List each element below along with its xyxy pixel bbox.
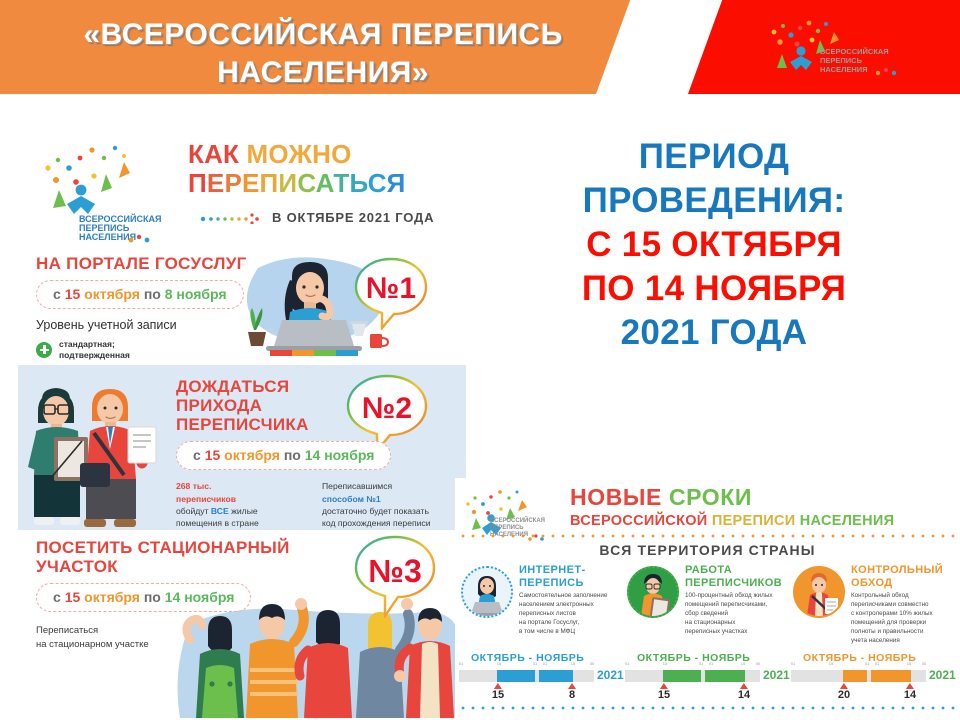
enumerators-heading: РАБОТА ПЕРЕПИСЧИКОВ (685, 564, 782, 590)
step-2-title: ДОЖДАТЬСЯ ПРИХОДА ПЕРЕПИСЧИКА (176, 377, 450, 434)
tick: 30 (922, 661, 926, 666)
svg-text:НАСЕЛЕНИЯ: НАСЕЛЕНИЯ (79, 232, 136, 242)
step-3-text: ПОСЕТИТЬ СТАЦИОНАРНЫЙ УЧАСТОК с 15 октяб… (36, 538, 290, 653)
new-dates-infographic: ВСЕРОССИЙСКАЯ ПЕРЕПИСЬ НАСЕЛЕНИЯ НОВЫЕ С… (455, 478, 960, 720)
step-3-note: Переписаться на стационарном участке (36, 624, 290, 653)
step-3-block: №3 ПОСЕТИТЬ СТАЦИОНАРНЫЙ УЧАСТОК с 15 ок… (18, 532, 466, 718)
step-1-date-pill: с 15 октября по 8 ноября (36, 280, 244, 309)
tick: 31 (865, 661, 869, 666)
timeline-enumerators-work: ОКТЯБРЬ - НОЯБРЬ 01 15 31 01 15 30 2021 … (625, 652, 790, 684)
timeline-1-end-marker: 8 (568, 683, 576, 701)
svg-text:ВСЕРОССИЙСКАЯ: ВСЕРОССИЙСКАЯ (820, 47, 889, 56)
how-to-headline: КАК МОЖНО ПЕРЕПИСАТЬСЯ (188, 140, 406, 198)
timeline-2-segment-october (663, 670, 701, 682)
step-1-illustration (230, 250, 466, 365)
tick: 01 (625, 661, 629, 666)
divider-dots-bottom (459, 706, 957, 710)
step-1-block: №1 НА ПОРТАЛЕ ГОСУСЛУГ с 15 октября по 8… (18, 250, 466, 365)
census-logo-new-dates: ВСЕРОССИЙСКАЯ ПЕРЕПИСЬ НАСЕЛЕНИЯ (460, 486, 568, 549)
step-3-title: ПОСЕТИТЬ СТАЦИОНАРНЫЙ УЧАСТОК (36, 538, 290, 576)
timeline-1-bars: 01 15 31 01 15 30 2021 15 8 (459, 668, 624, 684)
period-announcement: ПЕРИОД ПРОВЕДЕНИЯ: С 15 ОКТЯБРЯ ПО 14 НО… (476, 135, 952, 355)
timeline-2-bars: 01 15 31 01 15 30 2021 15 14 (625, 668, 790, 684)
timeline-3-bars: 01 15 31 01 15 30 2021 20 14 (791, 668, 956, 684)
page-title-line2: НАСЕЛЕНИЯ» (217, 56, 429, 89)
timeline-2-ticks: 01 15 31 01 15 30 (625, 661, 760, 668)
census-logo-icon: ВСЕРОССИЙСКАЯ ПЕРЕПИСЬ НАСЕЛЕНИЯ (760, 18, 910, 80)
divider-dots-top (459, 534, 957, 538)
page-title-line1: «ВСЕРОССИЙСКАЯ ПЕРЕПИСЬ (83, 18, 562, 51)
header-banner: «ВСЕРОССИЙСКАЯ ПЕРЕПИСЬ НАСЕЛЕНИЯ» ВСЕРО… (0, 0, 960, 94)
period-line-1: ПЕРИОД (476, 135, 952, 179)
timeline-1-segment-november (539, 670, 573, 682)
svg-text:ПЕРЕПИСЬ: ПЕРЕПИСЬ (820, 56, 863, 65)
timeline-2-year: 2021 (763, 668, 790, 682)
country-coverage-label: ВСЯ ТЕРРИТОРИЯ СТРАНЫ (455, 542, 960, 558)
svg-text:ПЕРЕПИСЬ: ПЕРЕПИСЬ (490, 525, 524, 531)
tick: 15 (571, 661, 575, 666)
timeline-2-start-marker: 15 (658, 683, 670, 701)
step-3-number-bubble: №3 (352, 534, 438, 618)
tick: 15 (907, 661, 911, 666)
headline-word-2: МОЖНО (247, 139, 352, 169)
how-to-subtitle: В ОКТЯБРЕ 2021 ГОДА (272, 210, 434, 225)
enumerators-body: 100-процентный обход жилых помещений пер… (685, 592, 789, 637)
timeline-3-ticks: 01 15 31 01 15 30 (791, 661, 926, 668)
svg-text:НАСЕЛЕНИЯ: НАСЕЛЕНИЯ (820, 65, 868, 74)
two-enumerators-illustration (20, 371, 170, 529)
timeline-control-round: ОКТЯБРЬ - НОЯБРЬ 01 15 31 01 15 30 2021 … (791, 652, 956, 684)
step-1-bullet: стандартная; подтвержденная (36, 339, 247, 360)
tick: 30 (756, 661, 760, 666)
control-round-heading: КОНТРОЛЬНЫЙ ОБХОД (851, 564, 943, 590)
timeline-3-end-day: 14 (904, 689, 916, 701)
period-line-2: ПРОВЕДЕНИЯ: (476, 179, 952, 223)
step-3-date-pill: с 15 октября по 14 ноября (36, 583, 251, 612)
step-2-text: ДОЖДАТЬСЯ ПРИХОДА ПЕРЕПИСЧИКА с 15 октяб… (176, 377, 450, 530)
tick: 31 (533, 661, 537, 666)
step-2-block: №2 ДОЖДАТЬСЯ ПРИХОДА ПЕРЕПИСЧИКА с 15 ок… (18, 365, 466, 530)
tick: 01 (543, 661, 547, 666)
step-1-text: НА ПОРТАЛЕ ГОСУСЛУГ с 15 октября по 8 но… (36, 254, 247, 360)
period-line-4: ПО 14 НОЯБРЯ (476, 267, 952, 311)
tick: 15 (741, 661, 745, 666)
how-to-subtitle-row: В ОКТЯБРЕ 2021 ГОДА (200, 210, 434, 225)
census-logo-icon: ВСЕРОССИЙСКАЯ ПЕРЕПИСЬ НАСЕЛЕНИЯ (36, 138, 166, 250)
headline-word-1: КАК (188, 139, 247, 169)
enumerator-icon (629, 568, 677, 616)
dotted-arrow-icon (200, 212, 262, 224)
controller-icon (795, 568, 843, 616)
step-1-number: №1 (352, 248, 430, 330)
timeline-3-segment-november (871, 670, 911, 682)
new-dates-subtitle: ВСЕРОССИЙСКОЙ ПЕРЕПИСИ НАСЕЛЕНИЯ (570, 514, 894, 529)
timeline-2-segment-november (705, 670, 745, 682)
census-logo-header: ВСЕРОССИЙСКАЯ ПЕРЕПИСЬ НАСЕЛЕНИЯ (760, 18, 910, 80)
new-dates-title-b: СРОКИ (662, 484, 752, 510)
internet-census-heading: ИНТЕРНЕТ- ПЕРЕПИСЬ (519, 564, 586, 590)
tick: 01 (459, 661, 463, 666)
tick: 01 (791, 661, 795, 666)
timeline-2-start-day: 15 (658, 689, 670, 701)
step-1-account-label: Уровень учетной записи (36, 318, 247, 332)
timeline-1-year: 2021 (597, 668, 624, 682)
timeline-3-year: 2021 (929, 668, 956, 682)
internet-census-body: Самостоятельное заполнение населением эл… (519, 592, 623, 637)
enumerators-avatar (627, 566, 679, 618)
timeline-3-start-day: 20 (838, 689, 850, 701)
timeline-1-ticks: 01 15 31 01 15 30 (459, 661, 594, 668)
timeline-1-end-day: 8 (568, 689, 576, 701)
control-round-avatar (793, 566, 845, 618)
timeline-1-start-day: 15 (492, 689, 504, 701)
timeline-2-end-day: 14 (738, 689, 750, 701)
tick: 01 (709, 661, 713, 666)
timeline-1-start-marker: 15 (492, 683, 504, 701)
plus-icon (36, 342, 52, 358)
tick: 15 (829, 661, 833, 666)
headline-line-2: ПЕРЕПИСАТЬСЯ (188, 168, 406, 198)
tick: 01 (875, 661, 879, 666)
timeline-3-end-marker: 14 (904, 683, 916, 701)
tick: 15 (663, 661, 667, 666)
new-dates-title-a: НОВЫЕ (570, 484, 662, 510)
step-3-number: №3 (352, 524, 438, 618)
timeline-3-segment-october (843, 670, 867, 682)
timeline-1-segment-october (497, 670, 535, 682)
step-2-fact-1: 268 тыс. переписчиков обойдут ВСЕ жилые … (176, 480, 304, 530)
step-2-date-pill: с 15 октября по 14 ноября (176, 441, 391, 470)
step-2-fact-2: Переписавшимся способом №1 достаточно бу… (322, 480, 450, 530)
woman-laptop-icon (463, 568, 511, 616)
step-1-bullet-text: стандартная; подтвержденная (59, 339, 130, 360)
step-1-title: НА ПОРТАЛЕ ГОСУСЛУГ (36, 254, 247, 273)
timeline-2-end-marker: 14 (738, 683, 750, 701)
internet-census-avatar (461, 566, 513, 618)
new-dates-title: НОВЫЕ СРОКИ (570, 486, 752, 509)
page-title: «ВСЕРОССИЙСКАЯ ПЕРЕПИСЬ НАСЕЛЕНИЯ» (18, 16, 628, 91)
timeline-3-start-marker: 20 (838, 683, 850, 701)
census-logo-left: ВСЕРОССИЙСКАЯ ПЕРЕПИСЬ НАСЕЛЕНИЯ (36, 138, 166, 255)
svg-text:ВСЕРОССИЙСКАЯ: ВСЕРОССИЙСКАЯ (490, 516, 545, 524)
how-to-register-infographic: ВСЕРОССИЙСКАЯ ПЕРЕПИСЬ НАСЕЛЕНИЯ КАК МОЖ… (18, 118, 466, 718)
woman-at-laptop-illustration (230, 250, 466, 365)
step-1-number-bubble: №1 (352, 256, 430, 330)
control-round-body: Контрольный обход переписчиками совместн… (851, 592, 955, 646)
period-line-5: 2021 ГОДА (476, 311, 952, 355)
timeline-internet-census: ОКТЯБРЬ - НОЯБРЬ 01 15 31 01 15 30 2021 … (459, 652, 624, 684)
tick: 31 (699, 661, 703, 666)
tick: 30 (590, 661, 594, 666)
period-line-3: С 15 ОКТЯБРЯ (476, 223, 952, 267)
step-2-facts: 268 тыс. переписчиков обойдут ВСЕ жилые … (176, 480, 450, 530)
tick: 15 (497, 661, 501, 666)
